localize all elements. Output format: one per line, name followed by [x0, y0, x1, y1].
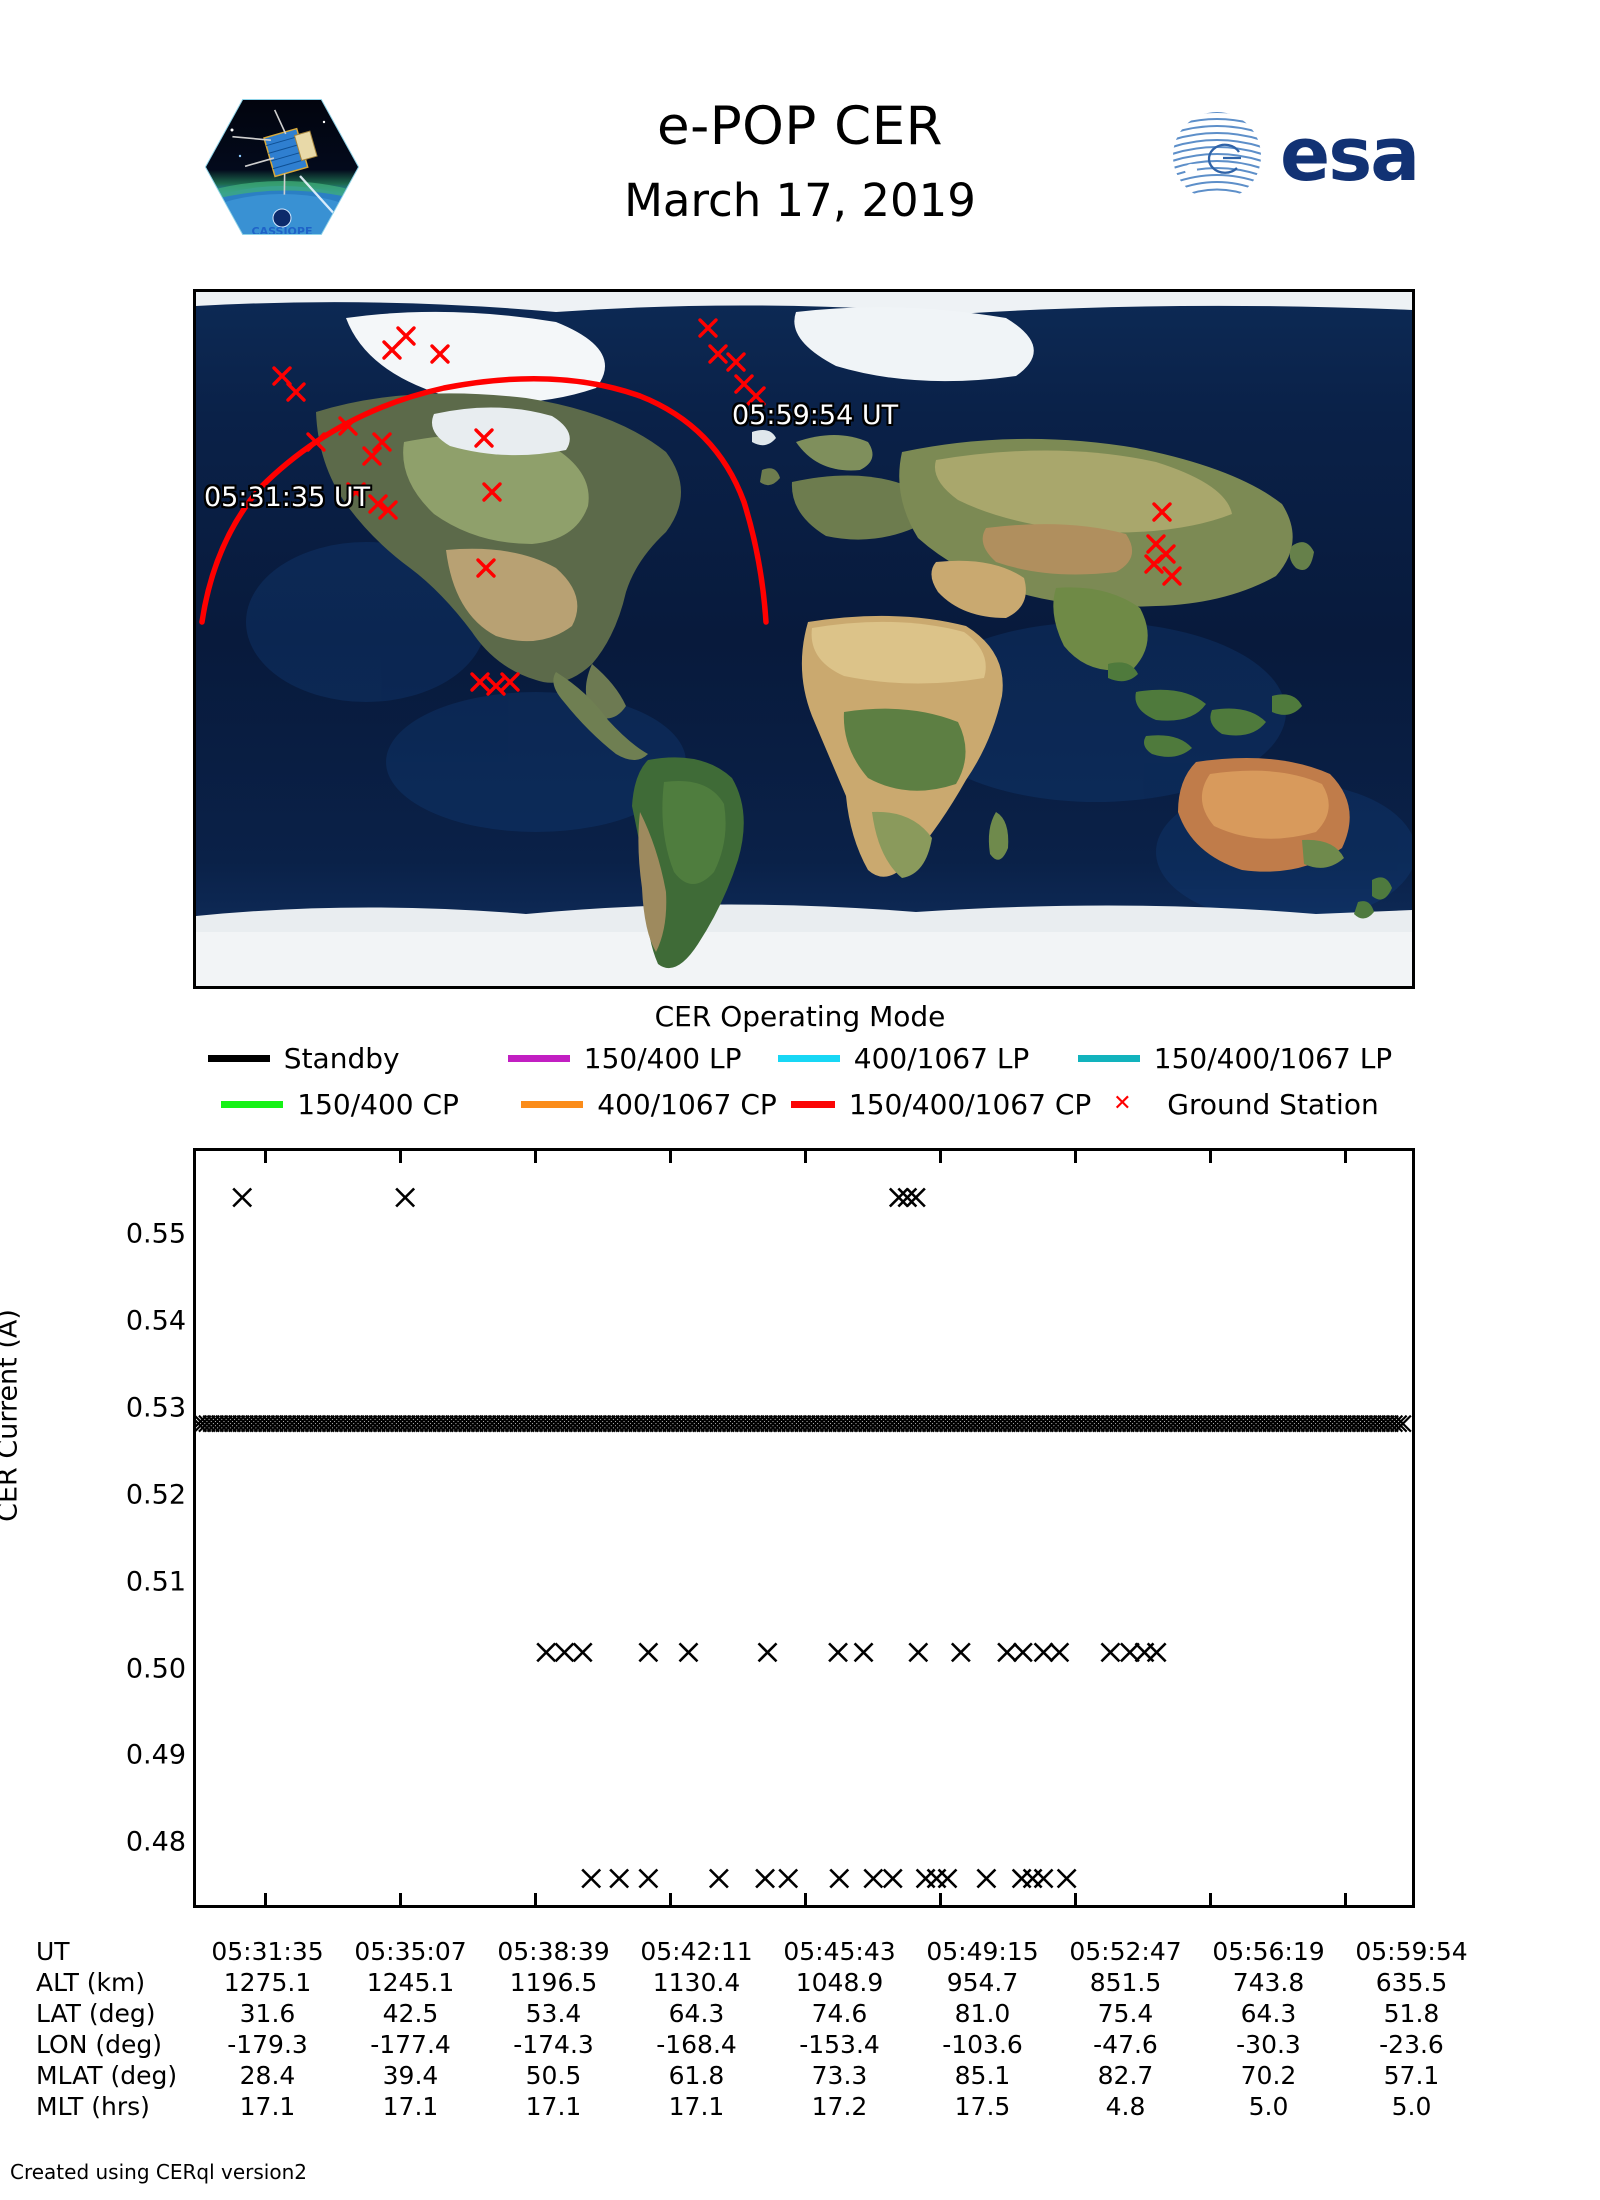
legend-label-400-1067-lp: 400/1067 LP [854, 1042, 1030, 1075]
data-point-mid-level [855, 1643, 873, 1661]
x-axis-tick [669, 1893, 672, 1905]
legend-item-standby[interactable]: Standby [208, 1042, 508, 1075]
data-point-mid-level [952, 1643, 970, 1661]
data-point-high-outliers [898, 1188, 916, 1206]
legend-swatch-400-1067-lp [778, 1055, 840, 1062]
data-point-low-level [756, 1870, 774, 1888]
legend-label-400-1067-cp: 400/1067 CP [597, 1088, 776, 1121]
data-point-mid-level [1035, 1643, 1053, 1661]
x-axis-tick [1344, 1893, 1347, 1905]
table-cell: 05:42:11 [625, 1937, 768, 1966]
table-cell: -179.3 [196, 2030, 339, 2059]
table-cell: 70.2 [1197, 2061, 1340, 2090]
legend-label-150-400-1067-cp: 150/400/1067 CP [849, 1088, 1091, 1121]
table-cell: 53.4 [482, 1999, 625, 2028]
data-point-low-level [639, 1870, 657, 1888]
legend-label-150-400-cp: 150/400 CP [297, 1088, 459, 1121]
table-cell: 1130.4 [625, 1968, 768, 1997]
table-cell: 05:52:47 [1054, 1937, 1197, 1966]
table-row-label: MLT (hrs) [36, 2092, 196, 2121]
x-axis-tick [534, 1151, 537, 1163]
table-cell: -30.3 [1197, 2030, 1340, 2059]
legend-item-ground-station[interactable]: ✕ Ground Station [1091, 1088, 1378, 1121]
data-point-low-level [938, 1870, 956, 1888]
map-start-time-label: 05:31:35 UT [204, 482, 370, 513]
data-point-high-outliers [233, 1188, 251, 1206]
data-point-mid-level [639, 1643, 657, 1661]
legend-item-400-1067-cp[interactable]: 400/1067 CP [521, 1088, 791, 1121]
esa-emblem-icon [1165, 108, 1277, 204]
table-cell: 17.1 [196, 2092, 339, 2121]
data-point-low-level [864, 1870, 882, 1888]
operating-mode-legend: Standby 150/400 LP 400/1067 LP 150/400/1… [0, 1035, 1600, 1127]
data-point-low-level [977, 1870, 995, 1888]
data-point-mid-level [1121, 1643, 1139, 1661]
table-cell: 17.5 [911, 2092, 1054, 2121]
legend-item-150-400-lp[interactable]: 150/400 LP [508, 1042, 778, 1075]
footer-credit: Created using CERql version2 [10, 2160, 307, 2184]
table-cell: 05:45:43 [768, 1937, 911, 1966]
data-point-mid-level [1050, 1643, 1068, 1661]
table-cell: 5.0 [1197, 2092, 1340, 2121]
table-cell: 28.4 [196, 2061, 339, 2090]
data-point-mid-level [1101, 1643, 1119, 1661]
table-cell: 5.0 [1340, 2092, 1483, 2121]
legend-item-150-400-cp[interactable]: 150/400 CP [221, 1088, 521, 1121]
page-header: CASSIOPE e-POP CER March 17, 2019 [0, 0, 1600, 270]
table-cell: 1196.5 [482, 1968, 625, 1997]
x-axis-tick [1209, 1151, 1212, 1163]
table-cell: 75.4 [1054, 1999, 1197, 2028]
x-axis-tick [804, 1151, 807, 1163]
table-row: LON (deg)-179.3-177.4-174.3-168.4-153.4-… [36, 2029, 1566, 2060]
table-cell: 05:38:39 [482, 1937, 625, 1966]
cer-current-scatter-plot[interactable] [193, 1148, 1415, 1908]
table-row-label: ALT (km) [36, 1968, 196, 1997]
data-point-mid-level [679, 1643, 697, 1661]
legend-swatch-150-400-lp [508, 1055, 570, 1062]
x-axis-tick [264, 1893, 267, 1905]
table-cell: 1048.9 [768, 1968, 911, 1997]
y-tick-label-0-55: 0.55 [66, 1218, 186, 1249]
legend-item-150-400-1067-cp[interactable]: 150/400/1067 CP [791, 1088, 1091, 1121]
table-cell: 05:59:54 [1340, 1937, 1483, 1966]
table-cell: -23.6 [1340, 2030, 1483, 2059]
y-axis-label: CER Current (A) [0, 1186, 24, 1646]
table-cell: 635.5 [1340, 1968, 1483, 1997]
table-cell: 85.1 [911, 2061, 1054, 2090]
table-cell: 1275.1 [196, 1968, 339, 1997]
table-row: MLT (hrs)17.117.117.117.117.217.54.85.05… [36, 2091, 1566, 2122]
table-cell: 05:31:35 [196, 1937, 339, 1966]
table-cell: -177.4 [339, 2030, 482, 2059]
legend-swatch-400-1067-cp [521, 1101, 583, 1108]
x-axis-tick [669, 1151, 672, 1163]
data-point-mid-level [998, 1643, 1016, 1661]
data-point-mid-level [555, 1643, 573, 1661]
legend-label-standby: Standby [284, 1042, 400, 1075]
table-cell: 73.3 [768, 2061, 911, 2090]
world-map-ground-track[interactable]: 05:31:35 UT 05:59:54 UT [193, 289, 1415, 989]
data-point-low-level [1058, 1870, 1076, 1888]
data-point-low-level [884, 1870, 902, 1888]
cassiope-hex-icon: CASSIOPE [204, 96, 360, 238]
data-point-mid-level [909, 1643, 927, 1661]
table-cell: -174.3 [482, 2030, 625, 2059]
ephemeris-data-table: UT05:31:3505:35:0705:38:3905:42:1105:45:… [36, 1936, 1566, 2122]
data-point-low-level [830, 1870, 848, 1888]
data-point-low-level [582, 1870, 600, 1888]
x-axis-tick [939, 1893, 942, 1905]
table-cell: 39.4 [339, 2061, 482, 2090]
y-tick-label-0-49: 0.49 [66, 1740, 186, 1771]
table-row-label: LON (deg) [36, 2030, 196, 2059]
legend-label-150-400-lp: 150/400 LP [584, 1042, 742, 1075]
map-caption-cer-operating-mode: CER Operating Mode [0, 1000, 1600, 1033]
data-point-low-level [710, 1870, 728, 1888]
x-axis-tick [1074, 1893, 1077, 1905]
x-axis-tick [1344, 1151, 1347, 1163]
table-cell: 64.3 [1197, 1999, 1340, 2028]
table-row: MLAT (deg)28.439.450.561.873.385.182.770… [36, 2060, 1566, 2091]
table-cell: 50.5 [482, 2061, 625, 2090]
page-title: e-POP CER [400, 96, 1200, 157]
legend-label-ground-station: Ground Station [1167, 1088, 1378, 1121]
table-cell: 42.5 [339, 1999, 482, 2028]
table-cell: 743.8 [1197, 1968, 1340, 1997]
table-cell: 05:49:15 [911, 1937, 1054, 1966]
legend-swatch-150-400-cp [221, 1101, 283, 1108]
data-point-high-outliers [907, 1188, 925, 1206]
table-cell: 17.1 [482, 2092, 625, 2121]
table-row: ALT (km)1275.11245.11196.51130.41048.995… [36, 1967, 1566, 1998]
data-point-low-level [779, 1870, 797, 1888]
data-point-low-level [610, 1870, 628, 1888]
x-axis-tick [1074, 1151, 1077, 1163]
ground-station-marker-icon: ✕ [1091, 1093, 1153, 1115]
y-tick-label-0-51: 0.51 [66, 1566, 186, 1597]
y-axis-tick-labels: 0.480.490.500.510.520.530.540.55 [48, 1148, 186, 1908]
x-axis-tick [804, 1893, 807, 1905]
data-point-mid-level [829, 1643, 847, 1661]
legend-swatch-150-400-1067-cp [791, 1101, 835, 1108]
y-tick-label-0-48: 0.48 [66, 1827, 186, 1858]
legend-swatch-150-400-1067-lp [1078, 1055, 1140, 1062]
table-cell: 81.0 [911, 1999, 1054, 2028]
x-axis-tick [939, 1151, 942, 1163]
table-row-label: UT [36, 1937, 196, 1966]
table-cell: -47.6 [1054, 2030, 1197, 2059]
table-cell: 51.8 [1340, 1999, 1483, 2028]
table-row: LAT (deg)31.642.553.464.374.681.075.464.… [36, 1998, 1566, 2029]
data-point-high-outliers [396, 1188, 414, 1206]
map-end-time-label: 05:59:54 UT [732, 400, 898, 431]
data-point-mid-level [574, 1643, 592, 1661]
data-point-high-outliers [890, 1188, 908, 1206]
table-cell: 05:56:19 [1197, 1937, 1340, 1966]
table-cell: 1245.1 [339, 1968, 482, 1997]
table-cell: -168.4 [625, 2030, 768, 2059]
data-point-mid-level [1014, 1643, 1032, 1661]
x-axis-tick [264, 1151, 267, 1163]
table-cell: 57.1 [1340, 2061, 1483, 2090]
table-cell: 61.8 [625, 2061, 768, 2090]
svg-text:CASSIOPE: CASSIOPE [252, 225, 313, 238]
legend-row-2: 150/400 CP 400/1067 CP 150/400/1067 CP ✕… [0, 1081, 1600, 1127]
table-cell: 4.8 [1054, 2092, 1197, 2121]
data-point-mid-level [759, 1643, 777, 1661]
y-tick-label-0-50: 0.50 [66, 1653, 186, 1684]
table-cell: 31.6 [196, 1999, 339, 2028]
y-tick-label-0-52: 0.52 [66, 1479, 186, 1510]
x-axis-tick [534, 1893, 537, 1905]
cassiope-mission-patch-logo: CASSIOPE [196, 92, 368, 242]
x-axis-tick [1209, 1893, 1212, 1905]
table-cell: 64.3 [625, 1999, 768, 2028]
legend-row-1: Standby 150/400 LP 400/1067 LP 150/400/1… [0, 1035, 1600, 1081]
table-cell: 82.7 [1054, 2061, 1197, 2090]
data-point-mid-level [537, 1643, 555, 1661]
table-cell: 05:35:07 [339, 1937, 482, 1966]
table-cell: 74.6 [768, 1999, 911, 2028]
scatter-canvas [196, 1151, 1412, 1905]
epop-cer-quicklook-page: CASSIOPE e-POP CER March 17, 2019 [0, 0, 1600, 2200]
legend-item-400-1067-lp[interactable]: 400/1067 LP [778, 1042, 1078, 1075]
esa-logo: esa [1165, 108, 1455, 204]
table-cell: 954.7 [911, 1968, 1054, 1997]
data-point-low-level [1035, 1870, 1053, 1888]
table-cell: 851.5 [1054, 1968, 1197, 1997]
table-row-label: LAT (deg) [36, 1999, 196, 2028]
x-axis-tick [399, 1151, 402, 1163]
legend-item-150-400-1067-lp[interactable]: 150/400/1067 LP [1078, 1042, 1392, 1075]
table-cell: -103.6 [911, 2030, 1054, 2059]
page-date-subtitle: March 17, 2019 [400, 174, 1200, 227]
table-cell: 17.2 [768, 2092, 911, 2121]
table-row-label: MLAT (deg) [36, 2061, 196, 2090]
legend-label-150-400-1067-lp: 150/400/1067 LP [1154, 1042, 1392, 1075]
x-axis-tick [399, 1893, 402, 1905]
table-cell: 17.1 [625, 2092, 768, 2121]
table-cell: 17.1 [339, 2092, 482, 2121]
y-tick-label-0-54: 0.54 [66, 1305, 186, 1336]
map-canvas [196, 292, 1412, 986]
table-cell: -153.4 [768, 2030, 911, 2059]
y-tick-label-0-53: 0.53 [66, 1392, 186, 1423]
data-point-mid-level [1148, 1643, 1166, 1661]
legend-swatch-standby [208, 1055, 270, 1062]
esa-wordmark: esa [1280, 112, 1418, 198]
table-row: UT05:31:3505:35:0705:38:3905:42:1105:45:… [36, 1936, 1566, 1967]
